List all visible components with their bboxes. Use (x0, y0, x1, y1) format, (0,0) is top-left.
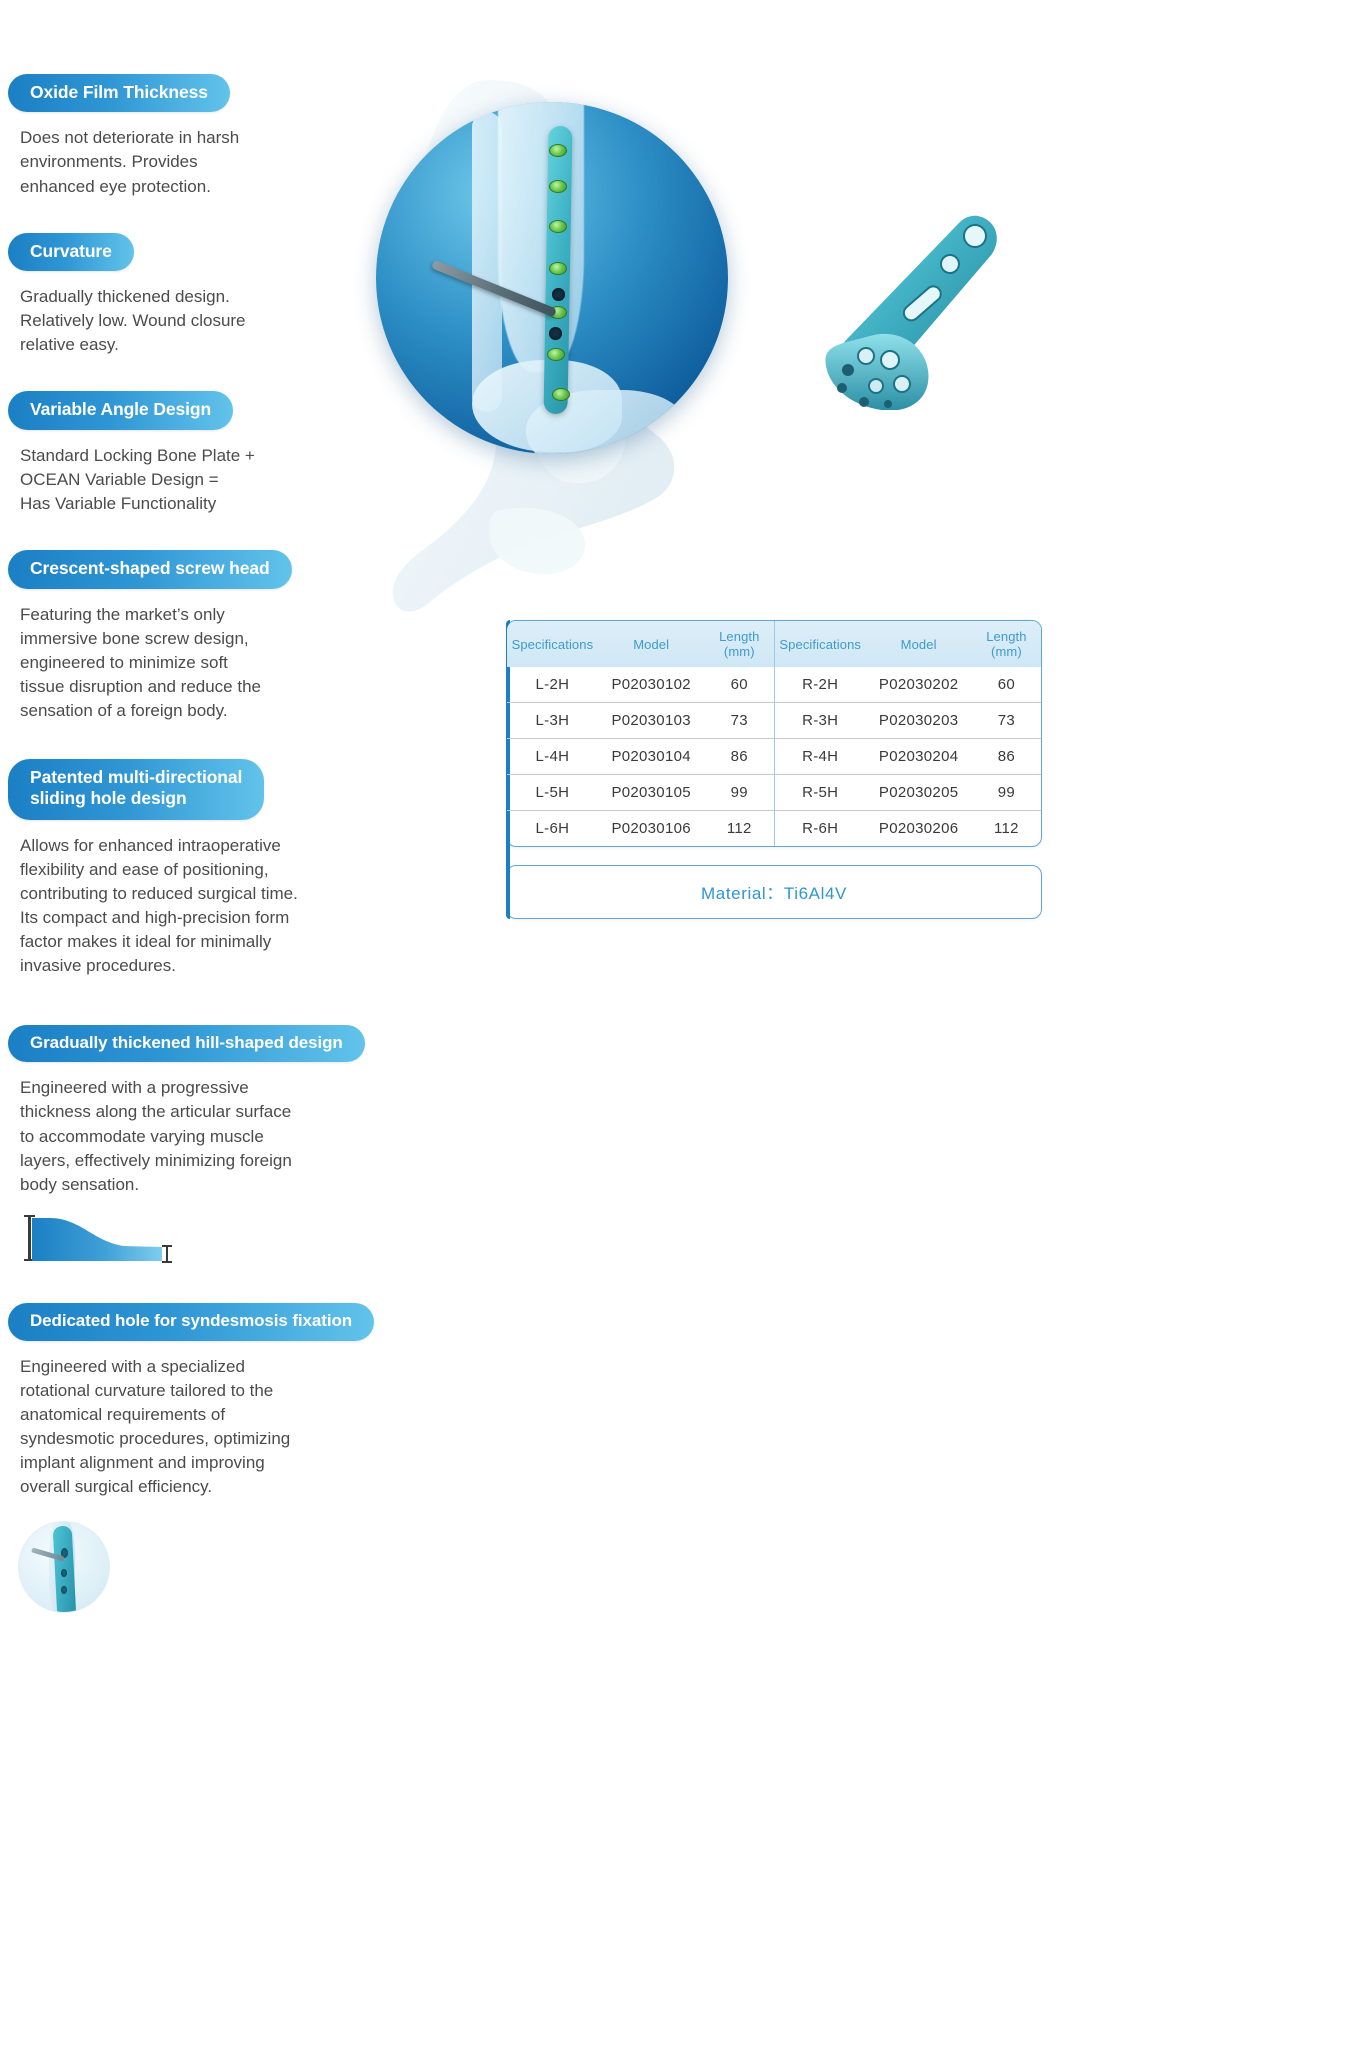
column-header-model: Model (598, 621, 705, 667)
caliper-right-icon (166, 1245, 168, 1263)
empty-plate-hole (552, 288, 565, 301)
feature-crescent-screw-head: Crescent-shaped screw head Featuring the… (0, 550, 400, 723)
column-header-specifications: Specifications (775, 621, 865, 667)
screw-head (547, 348, 565, 361)
cell-model: P02030204 (865, 739, 971, 775)
caliper-left-icon (28, 1215, 31, 1261)
empty-plate-hole (549, 327, 562, 340)
spec-table-right: Specifications Model Length (mm) R-2H P0… (775, 621, 1041, 846)
table-row: L-6H P02030106 112 (507, 811, 774, 847)
feature-body-text: Does not deteriorate in harsh environmen… (0, 112, 330, 198)
cell-specification: R-4H (775, 739, 865, 775)
spec-table-left: Specifications Model Length (mm) L-2H P0… (507, 621, 774, 846)
screw-head (549, 144, 567, 157)
table-row: R-2H P02030202 60 (775, 667, 1041, 703)
cell-model: P02030102 (598, 667, 705, 703)
table-row: R-5H P02030205 99 (775, 775, 1041, 811)
table-header-row: Specifications Model Length (mm) (775, 621, 1041, 667)
spec-table-right-half: Specifications Model Length (mm) R-2H P0… (774, 621, 1041, 846)
cell-specification: R-5H (775, 775, 865, 811)
product-feature-page: Oxide Film Thickness Does not deteriorat… (0, 0, 1369, 2048)
table-row: R-4H P02030204 86 (775, 739, 1041, 775)
cell-length: 60 (972, 667, 1041, 703)
screw-head (549, 220, 567, 233)
cell-model: P02030205 (865, 775, 971, 811)
cell-specification: R-6H (775, 811, 865, 847)
feature-body-text: Featuring the market’s only immersive bo… (0, 589, 330, 724)
cell-specification: R-3H (775, 703, 865, 739)
spec-table-left-half: Specifications Model Length (mm) L-2H P0… (507, 621, 774, 846)
cell-model: P02030106 (598, 811, 705, 847)
feature-title-badge: Crescent-shaped screw head (8, 550, 292, 588)
feature-title-badge: Curvature (8, 233, 134, 271)
hero-imagery (370, 70, 1369, 630)
cell-length: 73 (705, 703, 774, 739)
syndesmosis-hole-closeup-image (18, 1521, 110, 1613)
feature-title-badge: Patented multi-directional sliding hole … (8, 759, 264, 820)
hill-profile-shape (32, 1216, 164, 1262)
column-header-length: Length (mm) (705, 621, 774, 667)
cell-length: 60 (705, 667, 774, 703)
feature-title-badge: Gradually thickened hill-shaped design (8, 1025, 365, 1063)
table-row: L-2H P02030102 60 (507, 667, 774, 703)
cell-length: 73 (972, 703, 1041, 739)
cell-specification: R-2H (775, 667, 865, 703)
column-header-specifications: Specifications (507, 621, 598, 667)
material-bar: Material：Ti6Al4V (506, 865, 1042, 919)
feature-title-badge: Variable Angle Design (8, 391, 233, 429)
titanium-locking-bone-plate-image (782, 210, 1012, 410)
feature-body-text: Allows for enhanced intraoperative flexi… (0, 820, 330, 979)
magnified-xray-inset (376, 102, 728, 454)
cell-specification: L-6H (507, 811, 598, 847)
cell-specification: L-4H (507, 739, 598, 775)
cell-model: P02030206 (865, 811, 971, 847)
cell-specification: L-5H (507, 775, 598, 811)
feature-multidirectional-sliding-hole: Patented multi-directional sliding hole … (0, 759, 400, 978)
feature-syndesmosis-hole: Dedicated hole for syndesmosis fixation … (0, 1303, 400, 1613)
thickness-profile-diagram (28, 1215, 168, 1263)
column-header-length: Length (mm) (972, 621, 1041, 667)
table-row: L-4H P02030104 86 (507, 739, 774, 775)
cell-length: 99 (705, 775, 774, 811)
cell-length: 112 (705, 811, 774, 847)
cell-specification: L-2H (507, 667, 598, 703)
feature-curvature: Curvature Gradually thickened design. Re… (0, 233, 400, 358)
cell-length: 99 (972, 775, 1041, 811)
cell-length: 112 (972, 811, 1041, 847)
cell-length: 86 (972, 739, 1041, 775)
screw-head (549, 262, 567, 275)
feature-hill-shaped-design: Gradually thickened hill-shaped design E… (0, 1025, 400, 1263)
cell-model: P02030203 (865, 703, 971, 739)
column-header-model: Model (865, 621, 971, 667)
cell-model: P02030202 (865, 667, 971, 703)
feature-body-text: Engineered with a progressive thickness … (0, 1062, 330, 1197)
screw-head (552, 388, 570, 401)
table-row: R-3H P02030203 73 (775, 703, 1041, 739)
screw-head (549, 180, 567, 193)
feature-body-text: Standard Locking Bone Plate + OCEAN Vari… (0, 430, 330, 516)
cell-model: P02030104 (598, 739, 705, 775)
feature-body-text: Engineered with a specialized rotational… (0, 1341, 330, 1500)
feature-title-badge: Oxide Film Thickness (8, 74, 230, 112)
feature-oxide-film-thickness: Oxide Film Thickness Does not deteriorat… (0, 74, 400, 199)
table-row: R-6H P02030206 112 (775, 811, 1041, 847)
cell-model: P02030103 (598, 703, 705, 739)
cell-specification: L-3H (507, 703, 598, 739)
feature-variable-angle-design: Variable Angle Design Standard Locking B… (0, 391, 400, 516)
table-row: L-3H P02030103 73 (507, 703, 774, 739)
feature-body-text: Gradually thickened design. Relatively l… (0, 271, 330, 357)
cell-model: P02030105 (598, 775, 705, 811)
specifications-table-card: Specifications Model Length (mm) L-2H P0… (506, 620, 1042, 847)
cell-length: 86 (705, 739, 774, 775)
specifications-section: Specifications Model Length (mm) L-2H P0… (506, 620, 1042, 919)
feature-list: Oxide Film Thickness Does not deteriorat… (0, 74, 400, 1619)
table-row: L-5H P02030105 99 (507, 775, 774, 811)
feature-title-badge: Dedicated hole for syndesmosis fixation (8, 1303, 374, 1341)
table-header-row: Specifications Model Length (mm) (507, 621, 774, 667)
